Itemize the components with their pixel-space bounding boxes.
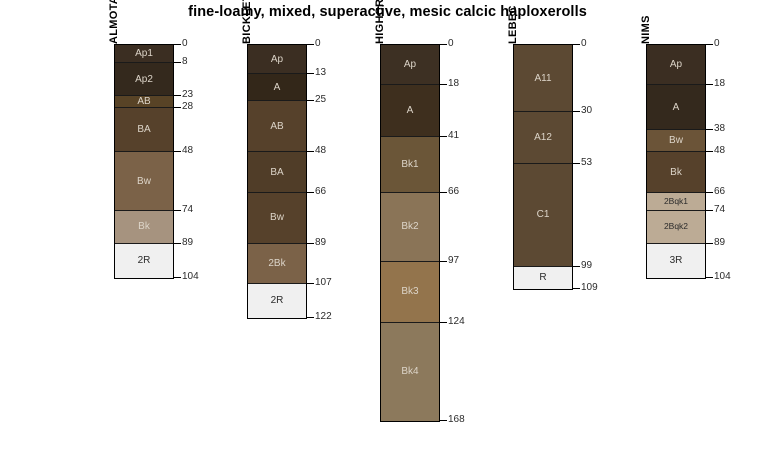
depth-tick bbox=[440, 44, 447, 45]
horizon-label: A bbox=[381, 105, 439, 116]
horizon-label: Bw bbox=[248, 212, 306, 223]
profile-name-label: ALMOTA bbox=[108, 0, 120, 44]
horizon-label: Bk2 bbox=[381, 221, 439, 232]
horizon-label: Bk3 bbox=[381, 286, 439, 297]
depth-tick bbox=[174, 243, 181, 244]
depth-tick-label: 66 bbox=[315, 187, 326, 197]
horizon-label: Ap bbox=[647, 59, 705, 70]
horizon-label: A bbox=[248, 82, 306, 93]
depth-tick bbox=[307, 283, 314, 284]
depth-tick-label: 168 bbox=[448, 415, 465, 425]
profile-name-label: LEBEC bbox=[507, 5, 519, 44]
depth-tick bbox=[706, 44, 713, 45]
depth-tick-label: 38 bbox=[714, 124, 725, 134]
horizon-label: Ap1 bbox=[115, 48, 173, 59]
depth-tick-label: 18 bbox=[448, 79, 459, 89]
horizon-label: Ap bbox=[381, 59, 439, 70]
horizon-label: Bk1 bbox=[381, 159, 439, 170]
depth-tick bbox=[573, 266, 580, 267]
horizon-label: 3R bbox=[647, 255, 705, 266]
profile-column: ApABwBk2Bqk12Bqk23R bbox=[646, 44, 706, 279]
depth-tick-label: 89 bbox=[182, 238, 193, 248]
profile-column: ApAABBABw2Bk2R bbox=[247, 44, 307, 319]
horizon-label: Bk bbox=[647, 167, 705, 178]
profile-column: A11A12C1R bbox=[513, 44, 573, 290]
depth-tick bbox=[174, 210, 181, 211]
depth-tick-label: 23 bbox=[182, 90, 193, 100]
depth-tick bbox=[307, 317, 314, 318]
depth-tick bbox=[307, 243, 314, 244]
depth-tick-label: 0 bbox=[315, 39, 321, 49]
horizon-label: 2Bqk1 bbox=[647, 196, 705, 206]
horizon-label: BA bbox=[115, 124, 173, 135]
depth-tick bbox=[174, 62, 181, 63]
depth-tick bbox=[307, 192, 314, 193]
horizon-label: A11 bbox=[514, 73, 572, 84]
horizon-label: BA bbox=[248, 167, 306, 178]
depth-tick bbox=[174, 151, 181, 152]
horizon-label: Bk bbox=[115, 221, 173, 232]
depth-tick-label: 0 bbox=[182, 39, 188, 49]
depth-tick bbox=[440, 192, 447, 193]
depth-tick bbox=[706, 277, 713, 278]
horizon-label: Bw bbox=[115, 176, 173, 187]
depth-tick-label: 53 bbox=[581, 158, 592, 168]
horizon-label: AB bbox=[115, 96, 173, 107]
horizon-label: 2R bbox=[248, 295, 306, 306]
depth-tick bbox=[706, 151, 713, 152]
depth-tick-label: 109 bbox=[581, 283, 598, 293]
depth-tick-label: 122 bbox=[315, 312, 332, 322]
depth-tick-label: 66 bbox=[714, 187, 725, 197]
depth-tick-label: 25 bbox=[315, 95, 326, 105]
depth-tick-label: 89 bbox=[714, 238, 725, 248]
horizon-label: C1 bbox=[514, 209, 572, 220]
profile-column: ApABk1Bk2Bk3Bk4 bbox=[380, 44, 440, 422]
depth-tick-label: 104 bbox=[182, 272, 199, 282]
depth-tick-label: 13 bbox=[315, 68, 326, 78]
depth-tick-label: 74 bbox=[182, 205, 193, 215]
depth-tick bbox=[706, 129, 713, 130]
depth-tick-label: 48 bbox=[182, 146, 193, 156]
depth-tick-label: 74 bbox=[714, 205, 725, 215]
horizon-label: Bw bbox=[647, 135, 705, 146]
horizon-label: Bk4 bbox=[381, 366, 439, 377]
depth-tick bbox=[307, 151, 314, 152]
depth-tick bbox=[307, 73, 314, 74]
horizon-label: A12 bbox=[514, 132, 572, 143]
depth-tick bbox=[440, 136, 447, 137]
depth-tick bbox=[573, 163, 580, 164]
depth-tick bbox=[573, 288, 580, 289]
depth-tick bbox=[307, 100, 314, 101]
depth-tick-label: 0 bbox=[714, 39, 720, 49]
horizon-label: 2R bbox=[115, 255, 173, 266]
profile-name-label: NIMS bbox=[640, 15, 652, 44]
depth-tick bbox=[440, 84, 447, 85]
depth-tick bbox=[706, 192, 713, 193]
depth-tick-label: 8 bbox=[182, 57, 188, 67]
depth-tick-label: 28 bbox=[182, 102, 193, 112]
depth-tick-label: 66 bbox=[448, 187, 459, 197]
depth-tick-label: 124 bbox=[448, 317, 465, 327]
depth-tick bbox=[174, 44, 181, 45]
depth-tick-label: 0 bbox=[448, 39, 454, 49]
depth-tick bbox=[307, 44, 314, 45]
depth-tick bbox=[174, 107, 181, 108]
depth-tick bbox=[573, 111, 580, 112]
depth-tick bbox=[706, 243, 713, 244]
depth-tick-label: 48 bbox=[315, 146, 326, 156]
depth-tick-label: 41 bbox=[448, 131, 459, 141]
profile-name-label: BICKLETON bbox=[241, 0, 253, 44]
depth-tick bbox=[706, 210, 713, 211]
horizon-label: 2Bqk2 bbox=[647, 221, 705, 231]
depth-tick-label: 104 bbox=[714, 272, 731, 282]
depth-tick bbox=[174, 277, 181, 278]
depth-tick-label: 18 bbox=[714, 79, 725, 89]
horizon-label: Ap2 bbox=[115, 74, 173, 85]
depth-tick-label: 99 bbox=[581, 261, 592, 271]
horizon-label: A bbox=[647, 102, 705, 113]
depth-tick-label: 89 bbox=[315, 238, 326, 248]
depth-tick bbox=[440, 261, 447, 262]
depth-tick bbox=[174, 95, 181, 96]
depth-tick bbox=[440, 420, 447, 421]
horizon-label: R bbox=[514, 272, 572, 283]
depth-tick bbox=[706, 84, 713, 85]
depth-tick-label: 97 bbox=[448, 256, 459, 266]
profile-column: Ap1Ap2ABBABwBk2R bbox=[114, 44, 174, 279]
depth-tick bbox=[440, 322, 447, 323]
depth-tick-label: 30 bbox=[581, 106, 592, 116]
depth-tick-label: 0 bbox=[581, 39, 587, 49]
horizon-label: 2Bk bbox=[248, 258, 306, 269]
profile-name-label: HIGHCREEK bbox=[374, 0, 386, 44]
horizon-label: AB bbox=[248, 121, 306, 132]
depth-tick bbox=[573, 44, 580, 45]
depth-tick-label: 48 bbox=[714, 146, 725, 156]
horizon-label: Ap bbox=[248, 54, 306, 65]
depth-tick-label: 107 bbox=[315, 278, 332, 288]
